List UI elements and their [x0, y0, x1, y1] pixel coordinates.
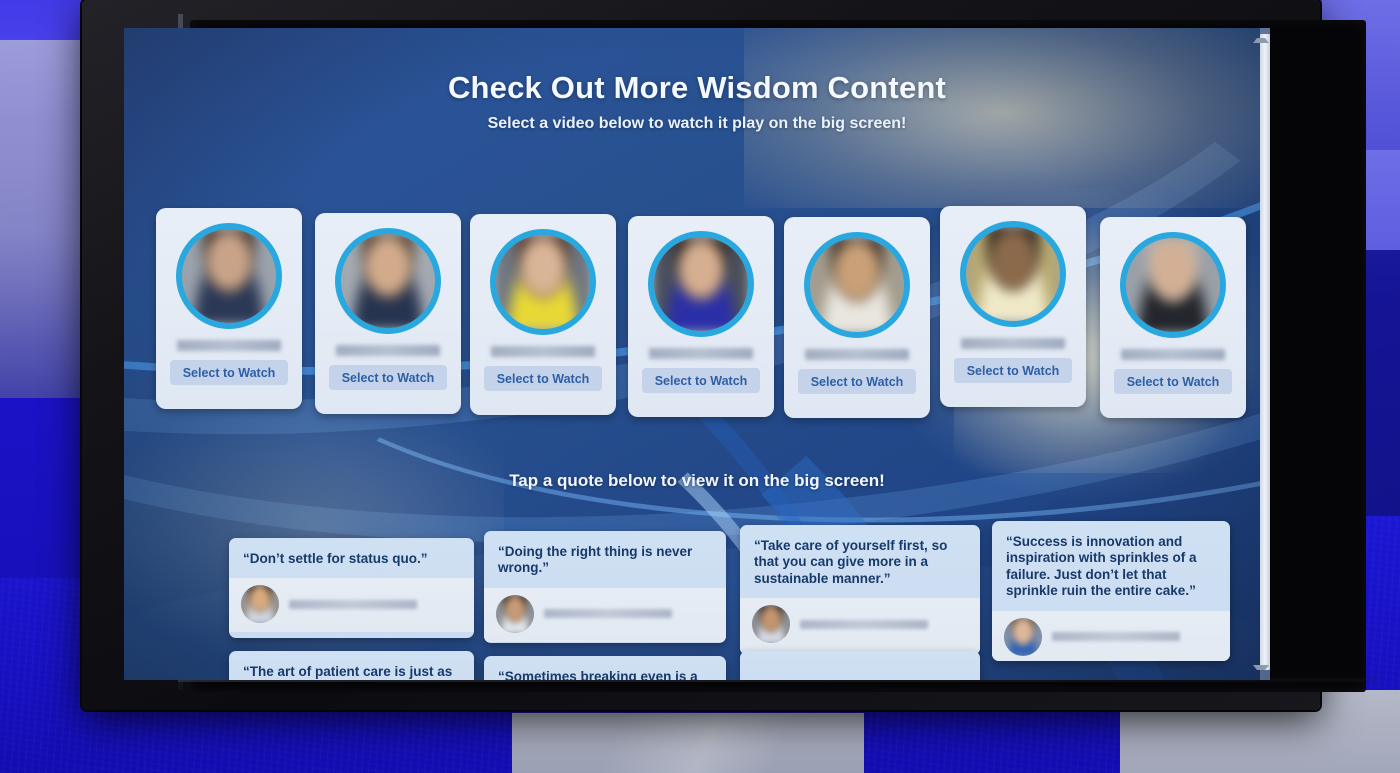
quote-card[interactable]: “Don’t settle for status quo.” [229, 538, 474, 638]
avatar-portrait [1126, 238, 1220, 332]
speaker-name-redacted [805, 349, 909, 360]
stage-left-lower-blue [0, 398, 92, 578]
quote-card[interactable] [740, 651, 980, 680]
speaker-avatar [335, 228, 441, 334]
quote-text: “Doing the right thing is never wrong.” [484, 531, 726, 588]
quote-attribution [484, 588, 726, 642]
speaker-avatar [176, 223, 282, 329]
quote-card[interactable]: “The art of patient care is just as impo… [229, 651, 474, 680]
speaker-name-redacted [961, 338, 1065, 349]
photographed-kiosk-scene: Check Out More Wisdom Content Select a v… [0, 0, 1400, 773]
avatar-portrait [241, 585, 279, 623]
avatar-portrait [496, 235, 590, 329]
speaker-card[interactable]: Select to Watch [784, 217, 930, 418]
speaker-name-redacted [177, 340, 281, 351]
avatar-portrait [496, 595, 534, 633]
chevron-up-icon[interactable] [1253, 30, 1269, 43]
speaker-avatar [1120, 232, 1226, 338]
avatar-portrait [341, 234, 435, 328]
avatar-portrait [182, 229, 276, 323]
avatar-portrait [752, 605, 790, 643]
quote-text: “Don’t settle for status quo.” [229, 538, 474, 578]
stage-left-panel [0, 0, 92, 420]
speaker-avatar [490, 229, 596, 335]
quote-card-grid: “Don’t settle for status quo.”“Doing the… [204, 515, 1264, 680]
speaker-avatar [960, 221, 1066, 327]
speaker-card[interactable]: Select to Watch [628, 216, 774, 417]
page-subtitle: Select a video below to watch it play on… [124, 115, 1270, 133]
quote-card[interactable]: “Doing the right thing is never wrong.” [484, 531, 726, 643]
quote-author-avatar [496, 595, 534, 633]
kiosk-screen: Check Out More Wisdom Content Select a v… [124, 28, 1270, 680]
quote-card[interactable]: “Sometimes breaking even is a [484, 656, 726, 680]
speaker-card[interactable]: Select to Watch [1100, 217, 1246, 418]
speaker-name-redacted [1121, 349, 1225, 360]
quote-author-avatar [241, 585, 279, 623]
speaker-name-redacted [491, 346, 595, 357]
speaker-video-card-row: Select to WatchSelect to WatchSelect to … [156, 208, 1246, 413]
select-to-watch-button[interactable]: Select to Watch [954, 358, 1072, 383]
quote-text [740, 651, 980, 680]
select-to-watch-button[interactable]: Select to Watch [642, 368, 760, 393]
avatar-portrait [966, 227, 1060, 321]
quote-author-name-redacted [544, 609, 672, 618]
quote-attribution [229, 578, 474, 632]
speaker-name-redacted [336, 345, 440, 356]
quote-author-name-redacted [800, 620, 928, 629]
quote-card[interactable]: “Success is innovation and inspiration w… [992, 521, 1230, 661]
avatar-portrait [654, 237, 748, 331]
quote-author-avatar [1004, 618, 1042, 656]
quote-text: “Take care of yourself first, so that yo… [740, 525, 980, 598]
quote-attribution [740, 598, 980, 652]
select-to-watch-button[interactable]: Select to Watch [484, 366, 602, 391]
select-to-watch-button[interactable]: Select to Watch [1114, 369, 1232, 394]
stage-left-panel-top-strip [0, 0, 92, 40]
quote-card[interactable]: “Take care of yourself first, so that yo… [740, 525, 980, 655]
quote-author-name-redacted [289, 600, 417, 609]
page-scrollbar-thumb[interactable] [1260, 34, 1270, 670]
quote-attribution [992, 611, 1230, 661]
speaker-avatar [804, 232, 910, 338]
page-title: Check Out More Wisdom Content [124, 70, 1270, 106]
kiosk-stand-glare [512, 713, 864, 773]
speaker-card[interactable]: Select to Watch [470, 214, 616, 415]
select-to-watch-button[interactable]: Select to Watch [329, 365, 447, 390]
quote-author-avatar [752, 605, 790, 643]
select-to-watch-button[interactable]: Select to Watch [170, 360, 288, 385]
avatar-portrait [810, 238, 904, 332]
speaker-card[interactable]: Select to Watch [156, 208, 302, 409]
quote-author-name-redacted [1052, 632, 1180, 641]
quote-text: “The art of patient care is just as impo… [229, 651, 474, 680]
select-to-watch-button[interactable]: Select to Watch [798, 369, 916, 394]
speaker-avatar [648, 231, 754, 337]
speaker-card[interactable]: Select to Watch [315, 213, 461, 414]
quotes-section-heading: Tap a quote below to view it on the big … [124, 471, 1270, 491]
chevron-down-icon[interactable] [1253, 665, 1269, 678]
quote-text: “Success is innovation and inspiration w… [992, 521, 1230, 611]
avatar-portrait [1004, 618, 1042, 656]
speaker-name-redacted [649, 348, 753, 359]
quote-text: “Sometimes breaking even is a [484, 656, 726, 680]
speaker-card[interactable]: Select to Watch [940, 206, 1086, 407]
page-header: Check Out More Wisdom Content Select a v… [124, 70, 1270, 133]
kiosk-app-content: Check Out More Wisdom Content Select a v… [124, 28, 1270, 680]
